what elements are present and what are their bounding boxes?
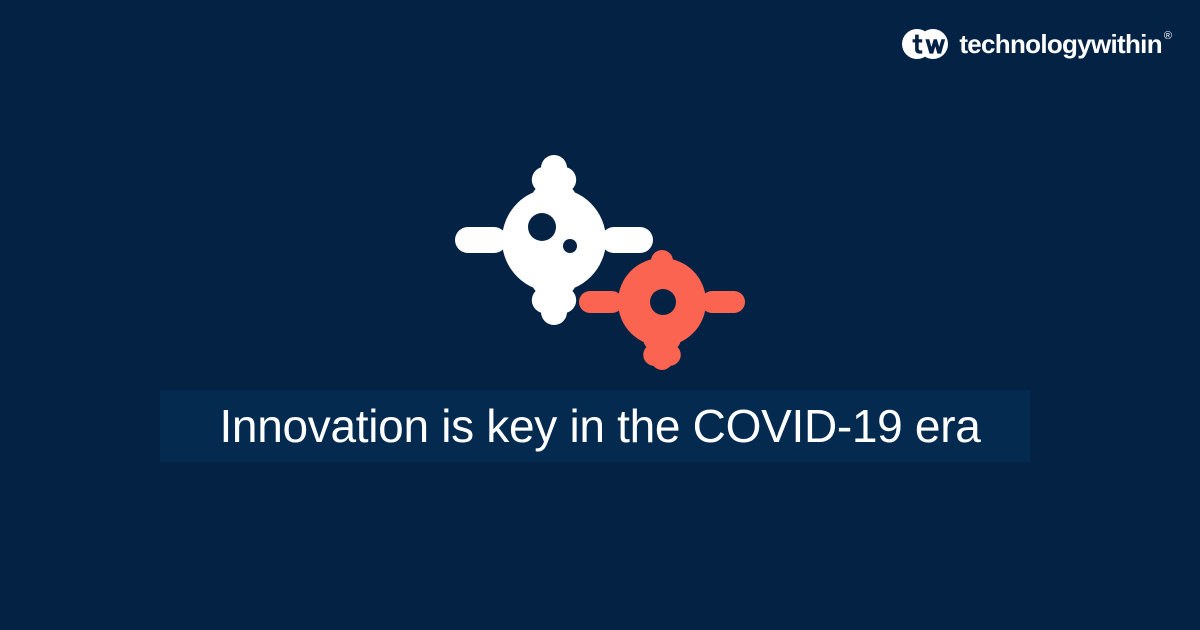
virus-coral-hole (650, 289, 676, 315)
virus-pair-svg (455, 155, 745, 370)
brand-wordmark: technologywithin (959, 28, 1162, 60)
brand-wordmark-wrap: technologywithin ® (959, 28, 1172, 60)
virus-white-hole-large (528, 213, 556, 241)
brand-logo[interactable]: technologywithin ® (902, 24, 1172, 64)
virus-white-hole-small (563, 239, 577, 253)
page-title: Innovation is key in the COVID-19 era (0, 396, 1200, 456)
virus-pair-illustration (455, 155, 745, 370)
registered-trademark-icon: ® (1164, 31, 1172, 42)
tw-monogram-icon (902, 28, 948, 60)
social-share-banner: technologywithin ® (0, 0, 1200, 630)
